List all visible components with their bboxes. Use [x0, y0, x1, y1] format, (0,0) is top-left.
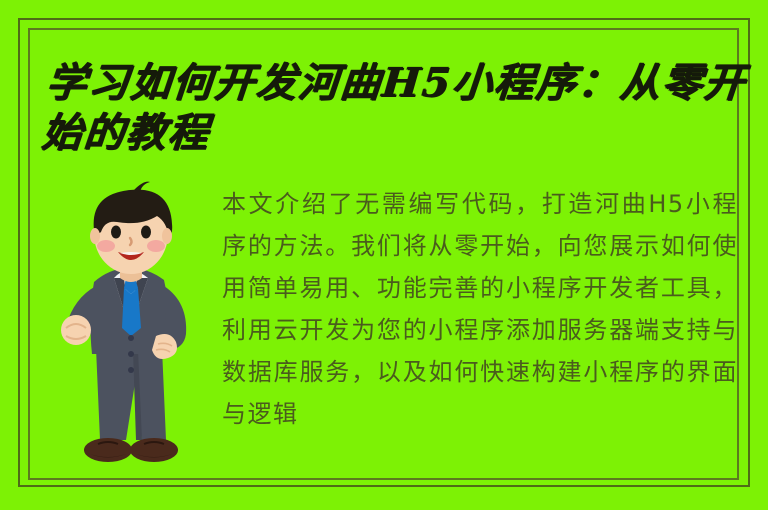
cartoon-businessman-illustration [38, 178, 218, 478]
body-paragraph: 本文介绍了无需编写代码，打造河曲H5小程序的方法。我们将从零开始，向您展示如何使… [222, 183, 738, 435]
shoes-group [84, 438, 178, 462]
head-group [90, 182, 172, 274]
blush-right [147, 240, 165, 252]
eye-left [111, 226, 121, 239]
poster-canvas: 学习如何开发河曲H5小程序：从零开始的教程 本文介绍了无需编写代码，打造河曲H5… [0, 0, 768, 510]
page-title: 学习如何开发河曲H5小程序：从零开始的教程 [40, 58, 749, 158]
trousers-group [96, 348, 166, 440]
eye-right [141, 226, 151, 239]
blush-left [97, 240, 115, 252]
